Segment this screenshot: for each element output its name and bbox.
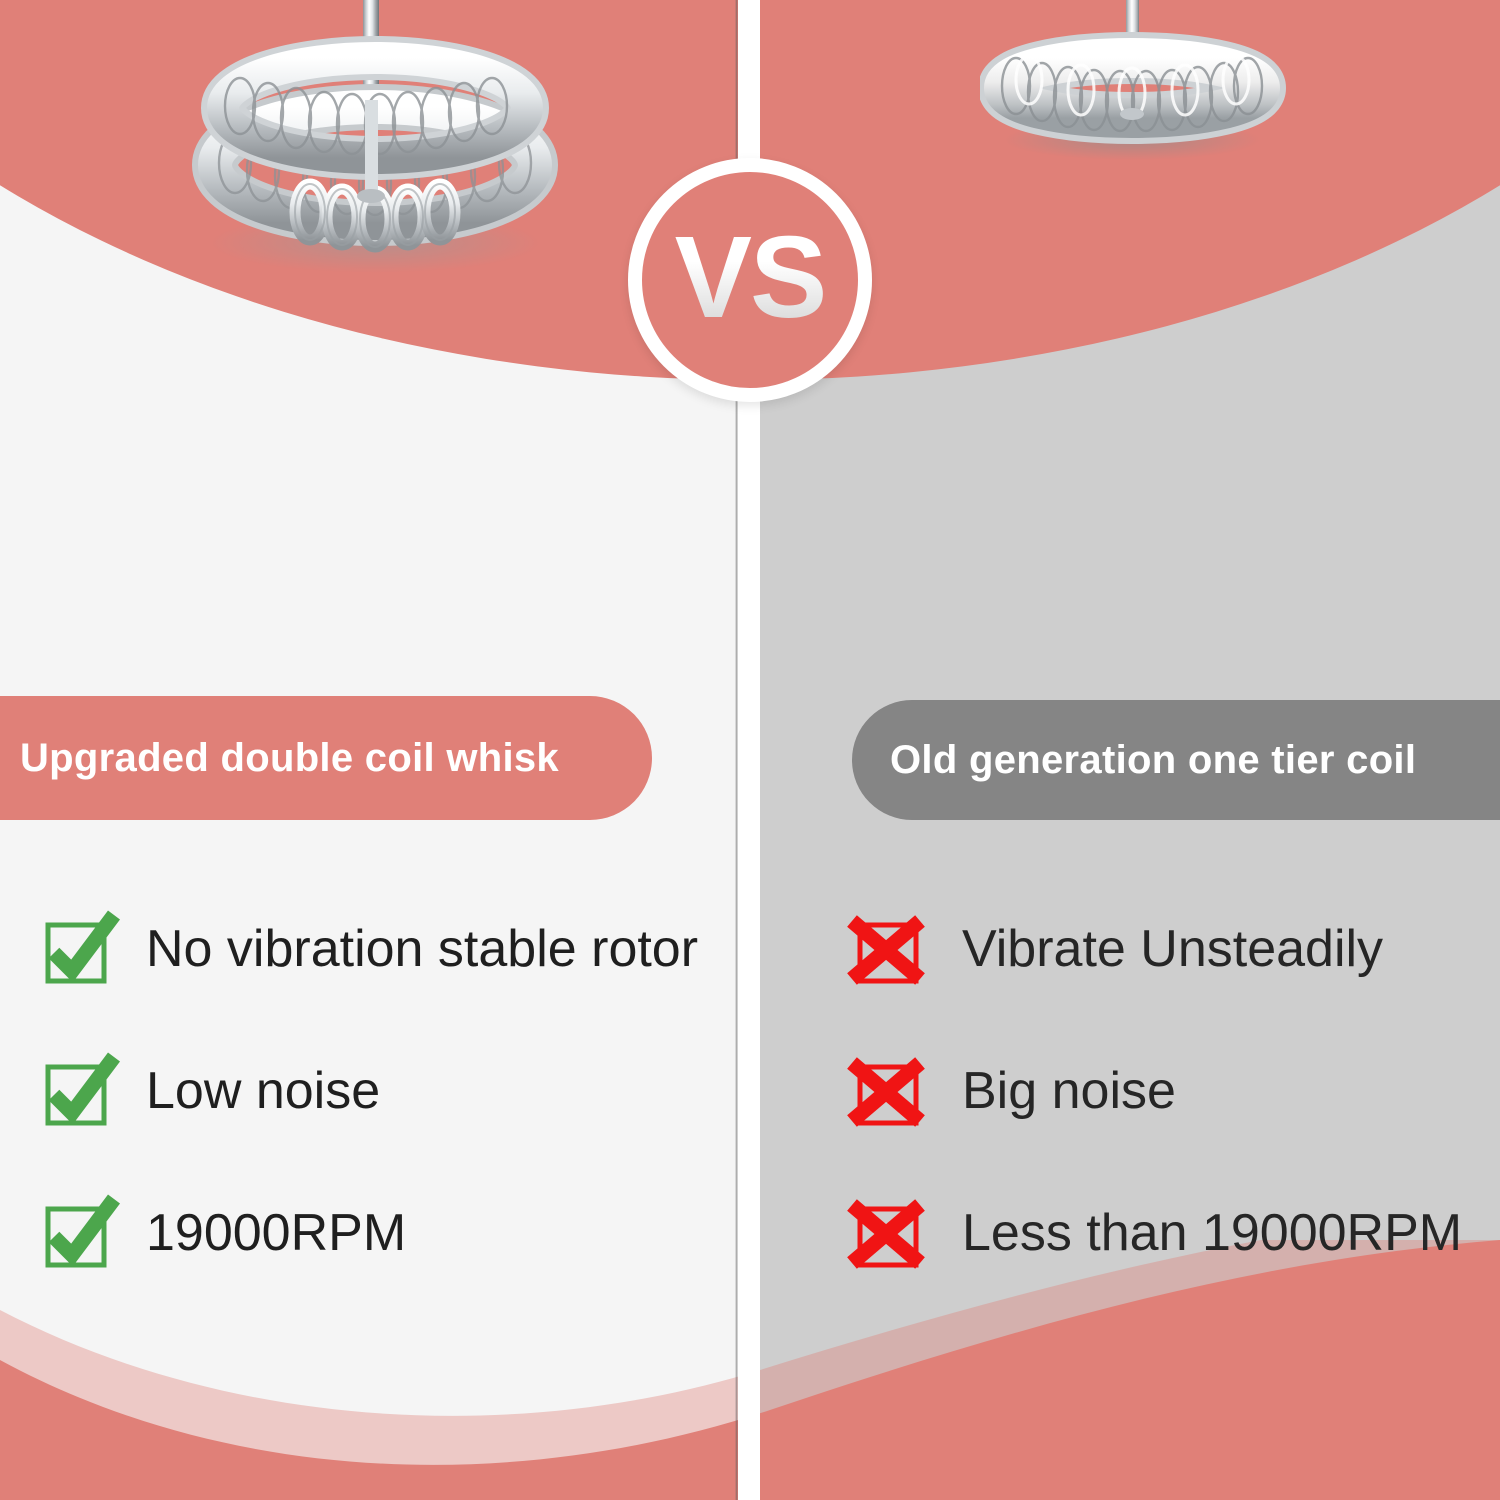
- left-banner-label: Upgraded double coil whisk: [20, 736, 559, 781]
- feature-label: Big noise: [962, 1065, 1176, 1117]
- cross-icon: [856, 913, 928, 985]
- feature-row: Low noise: [44, 1020, 724, 1162]
- cross-icon: [856, 1055, 928, 1127]
- left-product-image: [190, 0, 590, 660]
- left-banner-pill: Upgraded double coil whisk: [0, 696, 652, 820]
- cross-icon: [856, 1197, 928, 1269]
- right-banner-pill: Old generation one tier coil: [852, 700, 1500, 820]
- right-feature-list: Vibrate Unsteadily Big noise Less than: [856, 878, 1500, 1304]
- feature-label: 19000RPM: [146, 1207, 406, 1259]
- feature-label: Less than 19000RPM: [962, 1207, 1462, 1259]
- feature-label: No vibration stable rotor: [146, 923, 698, 975]
- vs-badge: VS: [628, 158, 872, 402]
- right-banner-label: Old generation one tier coil: [890, 738, 1416, 783]
- comparison-infographic: VS Upgraded double coil whisk Old genera…: [0, 0, 1500, 1500]
- check-icon: [44, 1055, 116, 1127]
- feature-row: 19000RPM: [44, 1162, 724, 1304]
- feature-label: Vibrate Unsteadily: [962, 923, 1383, 975]
- right-product-image: [980, 0, 1300, 680]
- feature-row: Vibrate Unsteadily: [856, 878, 1500, 1020]
- feature-row: Big noise: [856, 1020, 1500, 1162]
- feature-label: Low noise: [146, 1065, 380, 1117]
- vs-label: VS: [675, 219, 826, 341]
- feature-row: Less than 19000RPM: [856, 1162, 1500, 1304]
- feature-row: No vibration stable rotor: [44, 878, 724, 1020]
- check-icon: [44, 1197, 116, 1269]
- check-icon: [44, 913, 116, 985]
- left-feature-list: No vibration stable rotor Low noise 1900…: [44, 878, 724, 1304]
